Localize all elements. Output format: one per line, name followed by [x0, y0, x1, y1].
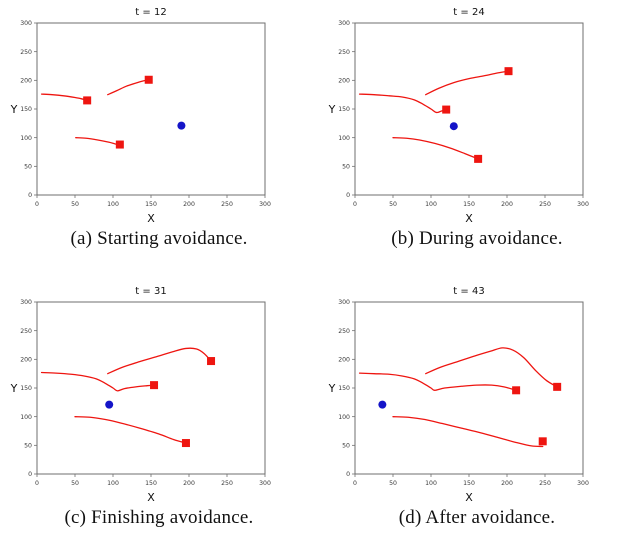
- trajectory-path: [42, 373, 154, 391]
- subfigure-a: t = 120501001502002503000501001502002503…: [0, 0, 318, 279]
- x-tick-label: 150: [145, 480, 157, 487]
- y-tick-label: 250: [338, 328, 350, 335]
- plot-panel-b: t = 240501001502002503000501001502002503…: [318, 0, 636, 228]
- trajectory-path: [360, 94, 447, 112]
- subfigure-c: t = 310501001502002503000501001502002503…: [0, 279, 318, 558]
- x-axis-label: X: [465, 212, 473, 225]
- y-tick-label: 0: [346, 471, 350, 478]
- y-axis-label: Y: [328, 382, 336, 395]
- plot-svg-a: t = 120501001502002503000501001502002503…: [0, 0, 318, 228]
- y-axis-label: Y: [10, 103, 18, 116]
- red-square-marker: [150, 381, 158, 389]
- x-tick-label: 100: [425, 201, 437, 208]
- y-tick-label: 0: [28, 192, 32, 199]
- y-tick-label: 300: [338, 299, 350, 306]
- y-tick-label: 150: [338, 385, 350, 392]
- y-tick-label: 200: [20, 78, 32, 85]
- trajectory-path: [393, 138, 478, 159]
- figure-container: t = 120501001502002503000501001502002503…: [0, 0, 636, 558]
- x-tick-label: 300: [259, 201, 271, 208]
- trajectory-path: [108, 348, 211, 373]
- trajectory-path: [75, 417, 186, 443]
- y-tick-label: 300: [20, 20, 32, 27]
- trajectory-path: [426, 71, 509, 95]
- subfigure-d: t = 430501001502002503000501001502002503…: [318, 279, 636, 558]
- x-tick-label: 0: [35, 201, 39, 208]
- x-tick-label: 100: [107, 480, 119, 487]
- blue-circle-marker: [105, 401, 113, 409]
- x-tick-label: 150: [145, 201, 157, 208]
- y-tick-label: 250: [20, 328, 32, 335]
- y-tick-label: 200: [338, 357, 350, 364]
- panel-title: t = 12: [135, 7, 166, 18]
- red-square-marker: [505, 67, 513, 75]
- subfigure-caption-b: (b) During avoidance.: [318, 228, 636, 250]
- x-tick-label: 300: [577, 201, 589, 208]
- x-tick-label: 200: [183, 480, 195, 487]
- plot-panel-d: t = 430501001502002503000501001502002503…: [318, 279, 636, 507]
- plot-panel-a: t = 120501001502002503000501001502002503…: [0, 0, 318, 228]
- plot-frame: [37, 23, 265, 195]
- y-tick-label: 300: [20, 299, 32, 306]
- plot-frame: [355, 23, 583, 195]
- red-square-marker: [474, 155, 482, 163]
- x-tick-label: 300: [259, 480, 271, 487]
- x-tick-label: 50: [71, 201, 79, 208]
- plot-frame: [355, 302, 583, 474]
- y-tick-label: 200: [20, 357, 32, 364]
- y-tick-label: 0: [346, 192, 350, 199]
- y-tick-label: 200: [338, 78, 350, 85]
- x-tick-label: 200: [501, 201, 513, 208]
- blue-circle-marker: [450, 122, 458, 130]
- red-square-marker: [83, 96, 91, 104]
- y-tick-label: 100: [20, 135, 32, 142]
- x-tick-label: 250: [221, 201, 233, 208]
- trajectory-path: [360, 373, 517, 390]
- subfigure-caption-a: (a) Starting avoidance.: [0, 228, 318, 250]
- blue-circle-marker: [378, 401, 386, 409]
- plot-svg-b: t = 240501001502002503000501001502002503…: [318, 0, 636, 228]
- y-tick-label: 50: [24, 443, 32, 450]
- y-tick-label: 100: [20, 414, 32, 421]
- y-tick-label: 150: [20, 106, 32, 113]
- x-axis-label: X: [465, 491, 473, 504]
- plot-panel-c: t = 310501001502002503000501001502002503…: [0, 279, 318, 507]
- trajectory-path: [393, 417, 543, 447]
- y-tick-label: 50: [342, 443, 350, 450]
- y-tick-label: 300: [338, 20, 350, 27]
- y-tick-label: 250: [20, 49, 32, 56]
- x-axis-label: X: [147, 491, 155, 504]
- trajectory-path: [426, 348, 557, 387]
- y-tick-label: 100: [338, 135, 350, 142]
- x-tick-label: 100: [425, 480, 437, 487]
- x-tick-label: 0: [353, 480, 357, 487]
- x-tick-label: 250: [539, 201, 551, 208]
- x-tick-label: 150: [463, 480, 475, 487]
- x-tick-label: 200: [183, 201, 195, 208]
- red-square-marker: [207, 357, 215, 365]
- x-axis-label: X: [147, 212, 155, 225]
- y-tick-label: 0: [28, 471, 32, 478]
- y-tick-label: 50: [342, 164, 350, 171]
- subfigure-caption-d: (d) After avoidance.: [318, 507, 636, 529]
- x-tick-label: 0: [35, 480, 39, 487]
- x-tick-label: 100: [107, 201, 119, 208]
- panel-title: t = 43: [453, 286, 484, 297]
- trajectory-path: [76, 138, 120, 145]
- panel-title: t = 24: [453, 7, 484, 18]
- plot-svg-c: t = 310501001502002503000501001502002503…: [0, 279, 318, 507]
- x-tick-label: 50: [389, 480, 397, 487]
- y-tick-label: 150: [20, 385, 32, 392]
- y-axis-label: Y: [10, 382, 18, 395]
- red-square-marker: [145, 76, 153, 84]
- x-tick-label: 250: [539, 480, 551, 487]
- red-square-marker: [182, 439, 190, 447]
- x-tick-label: 50: [389, 201, 397, 208]
- panel-title: t = 31: [135, 286, 166, 297]
- red-square-marker: [539, 437, 547, 445]
- y-tick-label: 100: [338, 414, 350, 421]
- trajectory-path: [108, 80, 149, 95]
- x-tick-label: 200: [501, 480, 513, 487]
- trajectory-path: [42, 94, 88, 100]
- y-tick-label: 250: [338, 49, 350, 56]
- red-square-marker: [512, 386, 520, 394]
- x-tick-label: 300: [577, 480, 589, 487]
- x-tick-label: 50: [71, 480, 79, 487]
- subfigure-b: t = 240501001502002503000501001502002503…: [318, 0, 636, 279]
- y-tick-label: 50: [24, 164, 32, 171]
- x-tick-label: 0: [353, 201, 357, 208]
- plot-svg-d: t = 430501001502002503000501001502002503…: [318, 279, 636, 507]
- subfigure-caption-c: (c) Finishing avoidance.: [0, 507, 318, 529]
- x-tick-label: 150: [463, 201, 475, 208]
- red-square-marker: [116, 141, 124, 149]
- blue-circle-marker: [177, 122, 185, 130]
- red-square-marker: [442, 106, 450, 114]
- y-tick-label: 150: [338, 106, 350, 113]
- red-square-marker: [553, 383, 561, 391]
- x-tick-label: 250: [221, 480, 233, 487]
- y-axis-label: Y: [328, 103, 336, 116]
